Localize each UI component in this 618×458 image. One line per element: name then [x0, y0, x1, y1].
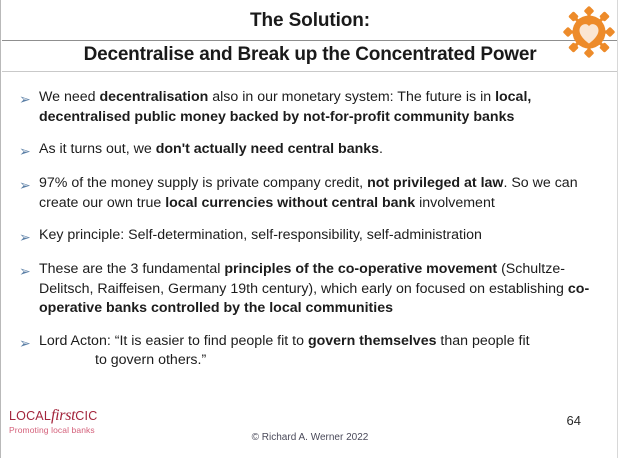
- bullet-decentralisation: ➢ We need decentralisation also in our m…: [19, 88, 604, 127]
- bullet-text: Key principle: Self-determination, self-…: [39, 226, 604, 246]
- bullet-lord-acton: ➢ Lord Acton: “It is easier to find peop…: [19, 332, 604, 371]
- logo-word-first: first: [51, 407, 75, 424]
- bullet-arrow-icon: ➢: [19, 226, 39, 247]
- bullet-arrow-icon: ➢: [19, 332, 39, 353]
- bullet-central-banks: ➢ As it turns out, we don't actually nee…: [19, 140, 604, 161]
- presentation-slide: The Solution: Decentralise and Break up …: [0, 0, 618, 458]
- bullet-key-principle: ➢ Key principle: Self-determination, sel…: [19, 226, 604, 247]
- logo-word-local: LOCAL: [9, 409, 51, 423]
- bullet-text: Lord Acton: “It is easier to find people…: [39, 332, 604, 371]
- bullet-text: 97% of the money supply is private compa…: [39, 174, 604, 213]
- bullet-arrow-icon: ➢: [19, 260, 39, 281]
- bullet-text: We need decentralisation also in our mon…: [39, 88, 604, 127]
- virus-logo-icon: [563, 4, 615, 60]
- bullet-cooperative-movement: ➢ These are the 3 fundamental principles…: [19, 260, 604, 319]
- bullet-text: As it turns out, we don't actually need …: [39, 140, 604, 160]
- logo-word-cic: CIC: [75, 409, 97, 423]
- slide-page-number: 64: [567, 413, 581, 428]
- title-divider-top: [2, 40, 618, 41]
- logo-wordmark: LOCALfirstCIC: [9, 408, 189, 424]
- bullet-text: These are the 3 fundamental principles o…: [39, 260, 604, 319]
- bullet-arrow-icon: ➢: [19, 140, 39, 161]
- bullet-arrow-icon: ➢: [19, 174, 39, 195]
- title-divider-bottom: [2, 71, 618, 72]
- slide-title-block: The Solution: Decentralise and Break up …: [1, 0, 618, 74]
- slide-body-bullets: ➢ We need decentralisation also in our m…: [19, 88, 604, 384]
- copyright-notice: © Richard A. Werner 2022: [1, 432, 618, 443]
- bullet-money-supply: ➢ 97% of the money supply is private com…: [19, 174, 604, 213]
- page-title-primary: The Solution:: [1, 10, 618, 32]
- page-title-secondary: Decentralise and Break up the Concentrat…: [1, 44, 618, 66]
- bullet-arrow-icon: ➢: [19, 88, 39, 109]
